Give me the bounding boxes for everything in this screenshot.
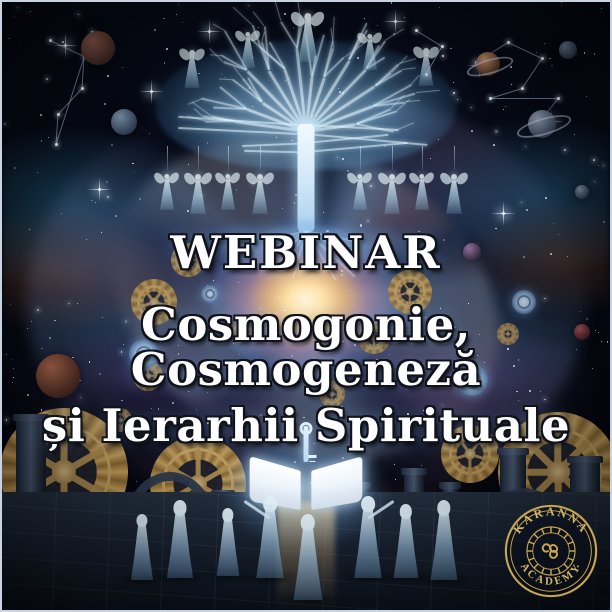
figure-robe bbox=[164, 511, 195, 578]
robed-figure bbox=[391, 504, 421, 578]
figure-robe bbox=[391, 514, 421, 578]
webinar-poster: WEBINAR Cosmogonie, Cosmogeneză și Ierar… bbox=[0, 0, 612, 612]
figure-robe bbox=[129, 523, 155, 580]
seal-dot-left bbox=[523, 565, 525, 567]
karanna-academy-logo[interactable]: KARANNA ACADEMY bbox=[503, 503, 599, 599]
seal-dot-right bbox=[577, 565, 579, 567]
robed-figure bbox=[428, 500, 460, 580]
figure-robe bbox=[428, 511, 460, 580]
title-line-2: și Ierarhii Spirituale bbox=[2, 403, 610, 448]
robed-figure bbox=[129, 514, 155, 580]
robed-figure bbox=[291, 514, 325, 600]
robed-figure bbox=[254, 496, 287, 578]
figure-robe bbox=[214, 518, 241, 576]
robed-figure bbox=[214, 508, 241, 576]
eyebrow-webinar: WEBINAR bbox=[2, 230, 610, 275]
figure-robe bbox=[291, 526, 325, 600]
title-line-1: Cosmogonie, Cosmogeneză bbox=[2, 302, 610, 392]
robed-figure bbox=[352, 496, 385, 578]
robed-figure bbox=[164, 500, 195, 578]
headline-block: WEBINAR Cosmogonie, Cosmogeneză și Ierar… bbox=[2, 230, 610, 448]
